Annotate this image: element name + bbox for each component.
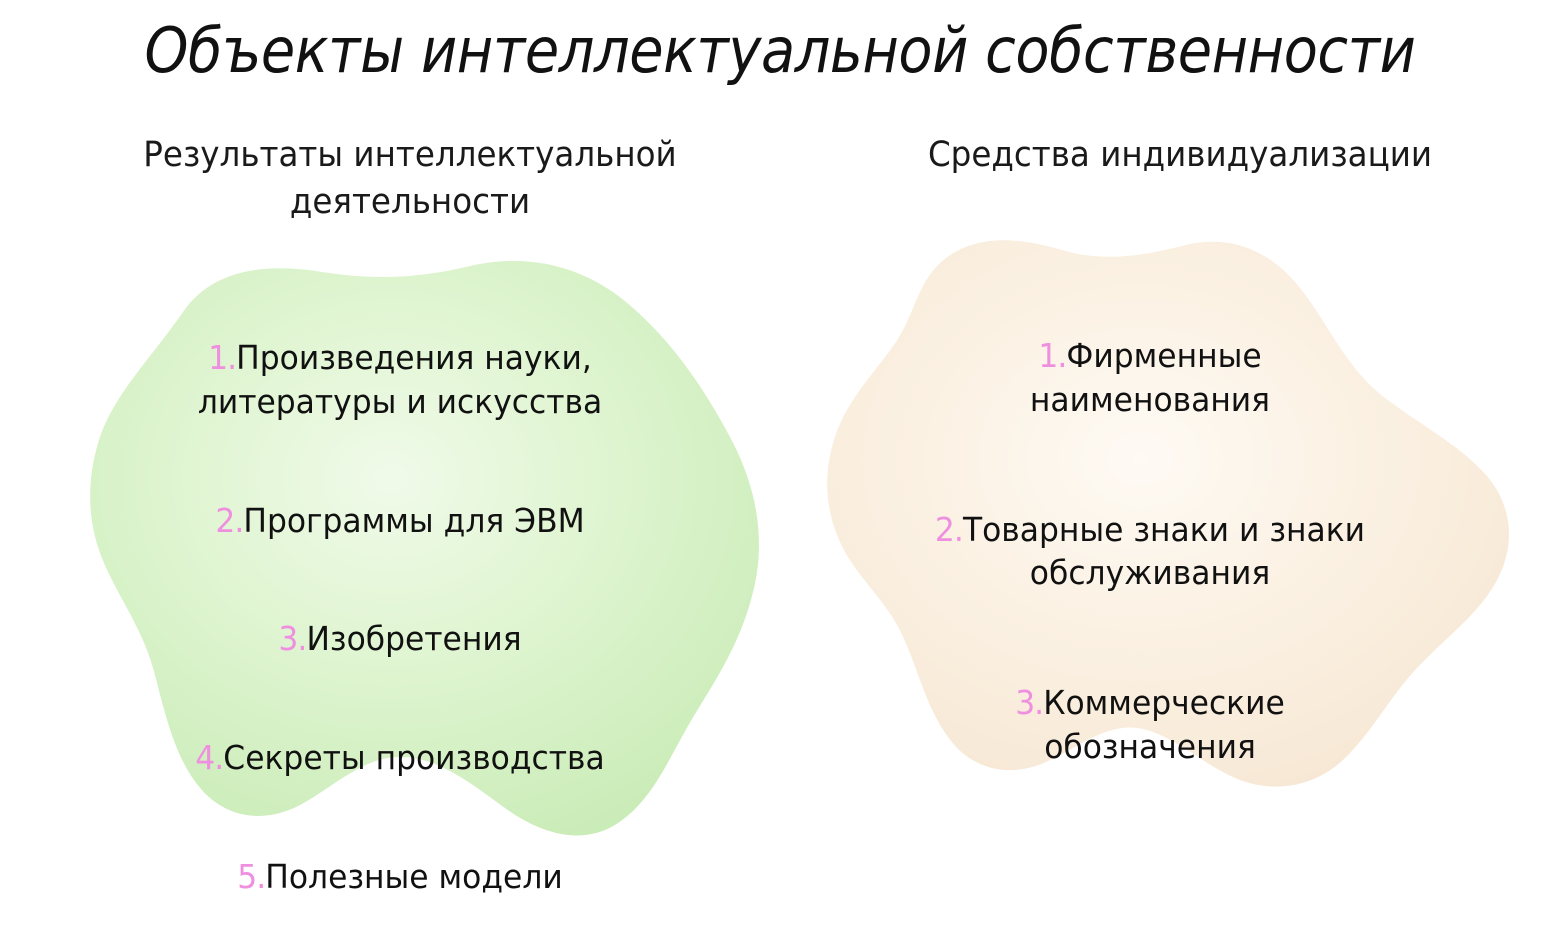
list-item: 3.Коммерческие обозначения xyxy=(875,637,1426,769)
list-item-label: Изобретения xyxy=(306,619,521,658)
list-item-number: 2. xyxy=(935,510,963,549)
page-title: Объекты интеллектуальной собственности xyxy=(78,14,1482,87)
list-item: 5.Полезные модели xyxy=(125,811,676,899)
list-item-label: Полезные модели xyxy=(265,857,562,896)
list-item: 4.Секреты производства xyxy=(125,692,676,780)
column-heading-means: Средства индивидуализации xyxy=(855,132,1506,179)
list-item-number: 4. xyxy=(195,738,223,777)
column-heading-results: Результаты интеллектуальной деятельности xyxy=(85,132,736,227)
list-item-label: Коммерческие обозначения xyxy=(1043,683,1285,766)
list-item-number: 1. xyxy=(1038,336,1066,375)
list-item-number: 2. xyxy=(215,501,243,540)
list-item-number: 3. xyxy=(278,619,306,658)
list-item: 2.Товарные знаки и знаки обслуживания xyxy=(875,464,1426,596)
list-item-label: Программы для ЭВМ xyxy=(243,501,584,540)
list-item-label: Произведения науки, литературы и искусст… xyxy=(198,338,602,421)
list-means: 1.Фирменные наименования 2.Товарные знак… xyxy=(860,290,1440,811)
list-item-number: 1. xyxy=(208,338,236,377)
list-item: 2.Программы для ЭВМ xyxy=(125,455,676,543)
list-item: 1.Фирменные наименования xyxy=(875,290,1426,422)
list-item-number: 5. xyxy=(237,857,265,896)
list-item-label: Фирменные наименования xyxy=(1030,336,1270,419)
list-item-number: 3. xyxy=(1015,683,1043,722)
list-item: 1.Произведения науки, литературы и искус… xyxy=(125,292,676,424)
list-item-label: Товарные знаки и знаки обслуживания xyxy=(963,510,1365,593)
list-results: 1.Произведения науки, литературы и искус… xyxy=(110,292,690,930)
list-item-label: Секреты производства xyxy=(223,738,604,777)
list-item: 3.Изобретения xyxy=(125,573,676,661)
